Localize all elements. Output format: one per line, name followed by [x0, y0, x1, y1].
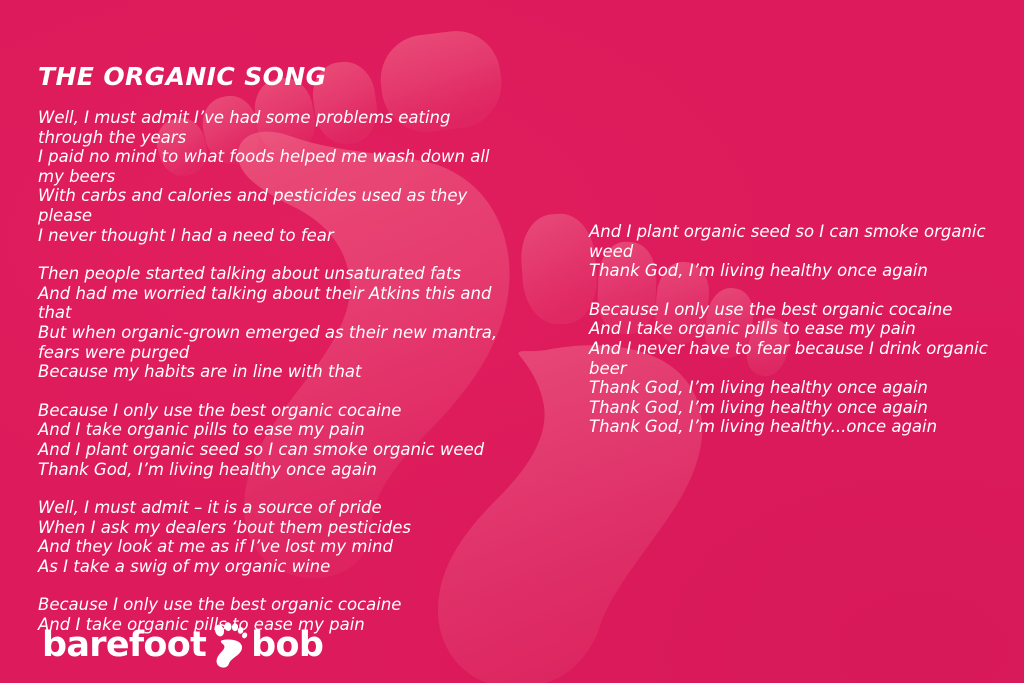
lyric-line: Thank God, I’m living healthy once again [589, 261, 989, 281]
lyric-line: Thank God, I’m living healthy...once aga… [589, 417, 989, 437]
page-title: THE ORGANIC SONG [38, 62, 327, 91]
lyric-line: With carbs and calories and pesticides u… [38, 186, 506, 225]
lyric-line: And I take organic pills to ease my pain [38, 420, 506, 440]
lyric-line: Well, I must admit – it is a source of p… [38, 498, 506, 518]
lyric-line: I paid no mind to what foods helped me w… [38, 147, 506, 186]
lyric-line: And I never have to fear because I drink… [589, 339, 989, 378]
lyrics-stanza: Well, I must admit I’ve had some problem… [38, 108, 506, 245]
lyric-line: Thank God, I’m living healthy once again [38, 460, 506, 480]
brand-logo[interactable]: barefoot bob [42, 622, 323, 668]
lyrics-stanza: Well, I must admit – it is a source of p… [38, 498, 506, 576]
lyric-line: As I take a swig of my organic wine [38, 557, 506, 577]
lyrics-slide: THE ORGANIC SONG Well, I must admit I’ve… [0, 0, 1024, 683]
lyrics-stanza: Because I only use the best organic coca… [589, 300, 989, 437]
logo-word-bob: bob [251, 628, 323, 663]
lyric-line: Then people started talking about unsatu… [38, 264, 506, 284]
lyrics-stanza: And I plant organic seed so I can smoke … [589, 222, 989, 281]
lyric-line: Because I only use the best organic coca… [38, 595, 506, 615]
lyric-line: But when organic-grown emerged as their … [38, 323, 506, 362]
lyrics-stanza: Then people started talking about unsatu… [38, 264, 506, 382]
lyric-line: Because I only use the best organic coca… [38, 401, 506, 421]
footprint-icon [207, 622, 249, 668]
lyric-line: And I plant organic seed so I can smoke … [589, 222, 989, 261]
lyric-line: And I plant organic seed so I can smoke … [38, 440, 506, 460]
lyric-line: And I take organic pills to ease my pain [589, 319, 989, 339]
lyrics-column-right: And I plant organic seed so I can smoke … [589, 222, 989, 437]
logo-word-barefoot: barefoot [42, 628, 206, 663]
lyrics-stanza: Because I only use the best organic coca… [38, 401, 506, 479]
lyric-line: And had me worried talking about their A… [38, 284, 506, 323]
lyric-line: Thank God, I’m living healthy once again [589, 378, 989, 398]
lyrics-column-left: Well, I must admit I’ve had some problem… [38, 108, 506, 635]
lyric-line: Because I only use the best organic coca… [589, 300, 989, 320]
lyric-line: And they look at me as if I’ve lost my m… [38, 537, 506, 557]
lyric-line: Because my habits are in line with that [38, 362, 506, 382]
lyric-line: Well, I must admit I’ve had some problem… [38, 108, 506, 147]
lyric-line: When I ask my dealers ‘bout them pestici… [38, 518, 506, 538]
lyric-line: I never thought I had a need to fear [38, 226, 506, 246]
lyric-line: Thank God, I’m living healthy once again [589, 398, 989, 418]
